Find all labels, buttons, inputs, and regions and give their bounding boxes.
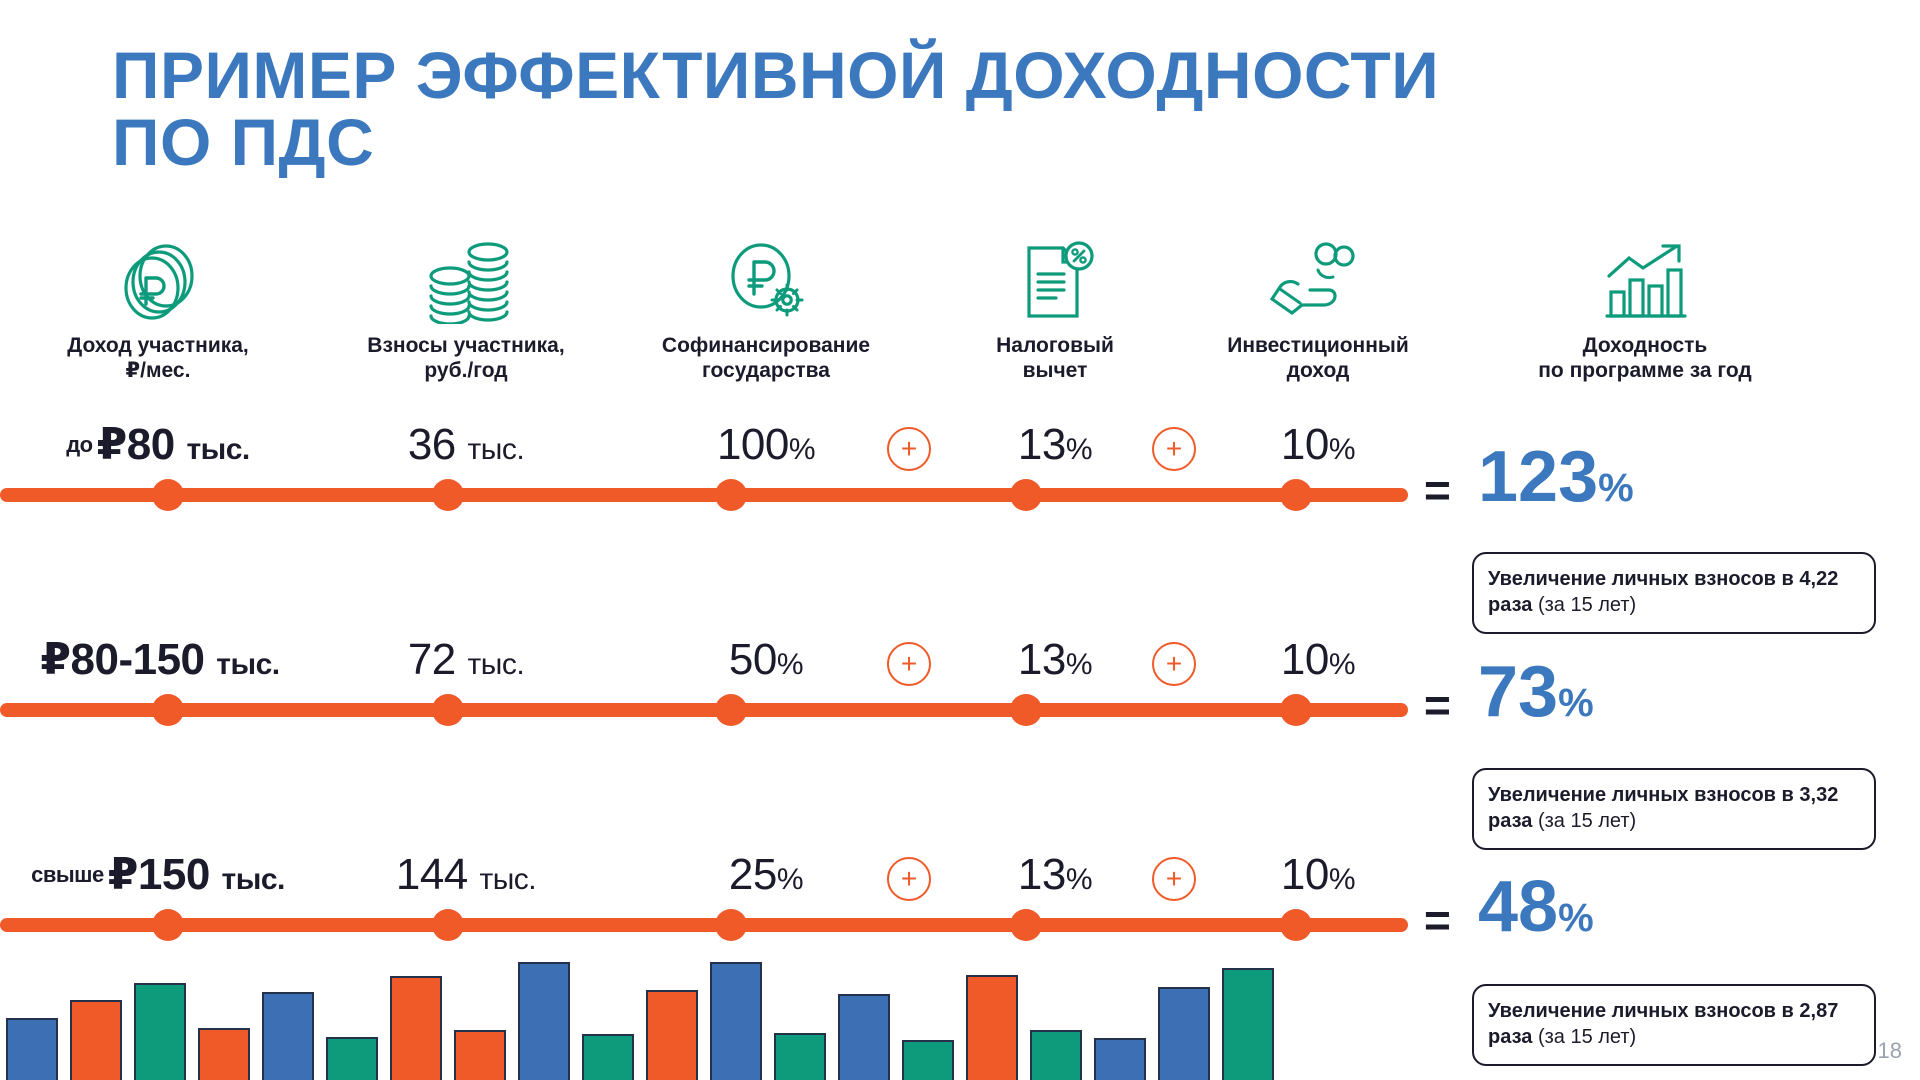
result-amount: 73 xyxy=(1478,652,1558,732)
connector-line xyxy=(0,488,1408,502)
income-value: ₽80-150 тыс. xyxy=(8,630,308,695)
decorative-bar xyxy=(646,990,698,1080)
decorative-bar xyxy=(902,1040,954,1080)
investment-income-unit: % xyxy=(1329,863,1355,896)
result-value: 48% xyxy=(1478,871,1594,943)
income-unit: тыс. xyxy=(222,863,285,896)
growth-chart-arrow-icon xyxy=(1480,232,1810,324)
result-unit: % xyxy=(1558,681,1594,725)
data-row: до₽80 тыс. 36 тыс. 100% + 13% + 10% = 12… xyxy=(0,415,1920,535)
income-symbol: ₽ xyxy=(97,420,127,469)
contribution-amount: 36 xyxy=(408,420,456,469)
contribution-unit: тыс. xyxy=(468,433,525,466)
data-row: ₽80-150 тыс. 72 тыс. 50% + 13% + 10% = 7… xyxy=(0,630,1920,750)
connector-dot xyxy=(715,694,747,726)
cofinancing-unit: % xyxy=(777,863,803,896)
equals-icon: = xyxy=(1424,678,1451,732)
decorative-bar xyxy=(582,1034,634,1080)
cofinancing-value: 25% xyxy=(606,845,926,910)
rouble-coins-icon xyxy=(8,232,308,324)
investment-income-unit: % xyxy=(1329,648,1355,681)
connector-dot xyxy=(152,694,184,726)
income-prefix: свыше xyxy=(31,862,104,887)
connector-dot xyxy=(1010,479,1042,511)
result-unit: % xyxy=(1558,896,1594,940)
investment-income-amount: 10 xyxy=(1281,850,1329,899)
investment-income-value: 10% xyxy=(1168,415,1468,480)
income-amount: 150 xyxy=(138,850,210,899)
cofinancing-value: 100% xyxy=(606,415,926,480)
callout-light-text: (за 15 лет) xyxy=(1538,594,1636,616)
column-tax-deduction: Налоговый вычет xyxy=(930,232,1180,384)
decorative-bar xyxy=(134,983,186,1080)
income-unit: тыс. xyxy=(216,648,279,681)
column-tax-deduction-label: Налоговый вычет xyxy=(930,334,1180,384)
page-title: ПРИМЕР ЭФФЕКТИВНОЙ ДОХОДНОСТИ ПО ПДС xyxy=(112,42,1812,177)
contribution-value: 72 тыс. xyxy=(316,630,616,695)
column-header-row: Доход участника, ₽/мес. Взносы участника… xyxy=(0,232,1860,402)
income-symbol: ₽ xyxy=(108,850,138,899)
column-income-label: Доход участника, ₽/мес. xyxy=(8,334,308,384)
decorative-bar xyxy=(1030,1030,1082,1080)
callout-box: Увеличение личных взносов в 3,32 раза (з… xyxy=(1472,768,1876,850)
equals-icon: = xyxy=(1424,893,1451,947)
slide-root: ПРИМЕР ЭФФЕКТИВНОЙ ДОХОДНОСТИ ПО ПДС Дох… xyxy=(0,0,1920,1080)
investment-income-amount: 10 xyxy=(1281,420,1329,469)
tax-deduction-value: 13% xyxy=(930,845,1180,910)
connector-dot xyxy=(715,909,747,941)
connector-dot xyxy=(152,479,184,511)
cofinancing-amount: 100 xyxy=(717,420,789,469)
cofinancing-unit: % xyxy=(789,433,815,466)
callout-box: Увеличение личных взносов в 2,87 раза (з… xyxy=(1472,984,1876,1066)
decorative-bar xyxy=(262,992,314,1080)
decorative-bar-chart xyxy=(0,970,1420,1080)
investment-income-value: 10% xyxy=(1168,630,1468,695)
callout-light-text: (за 15 лет) xyxy=(1538,810,1636,832)
connector-dot xyxy=(1010,909,1042,941)
tax-deduction-amount: 13 xyxy=(1018,420,1066,469)
result-value: 73% xyxy=(1478,656,1594,728)
tax-deduction-unit: % xyxy=(1066,863,1092,896)
investment-income-unit: % xyxy=(1329,433,1355,466)
decorative-bar xyxy=(326,1037,378,1080)
tax-document-percent-icon xyxy=(930,232,1180,324)
cofinancing-amount: 50 xyxy=(729,635,777,684)
column-income: Доход участника, ₽/мес. xyxy=(8,232,308,384)
plus-icon: + xyxy=(887,642,931,686)
tax-deduction-amount: 13 xyxy=(1018,635,1066,684)
result-amount: 123 xyxy=(1478,437,1598,517)
income-amount: 80-150 xyxy=(71,635,205,684)
contribution-unit: тыс. xyxy=(480,863,537,896)
decorative-bar xyxy=(1158,987,1210,1080)
tax-deduction-amount: 13 xyxy=(1018,850,1066,899)
decorative-bar xyxy=(518,962,570,1080)
decorative-bar xyxy=(1222,968,1274,1080)
contribution-amount: 144 xyxy=(396,850,468,899)
income-unit: тыс. xyxy=(186,433,249,466)
equals-icon: = xyxy=(1424,463,1451,517)
coin-stacks-icon xyxy=(316,232,616,324)
result-amount: 48 xyxy=(1478,867,1558,947)
income-value: до₽80 тыс. xyxy=(8,415,308,480)
income-value: свыше₽150 тыс. xyxy=(8,845,308,910)
column-cofinancing: Софинансирование государства xyxy=(606,232,926,384)
callout-box: Увеличение личных взносов в 4,22 раза (з… xyxy=(1472,552,1876,634)
connector-dot xyxy=(715,479,747,511)
connector-dot xyxy=(1280,479,1312,511)
decorative-bar xyxy=(774,1033,826,1080)
cofinancing-unit: % xyxy=(777,648,803,681)
column-program-yield: Доходность по программе за год xyxy=(1480,232,1810,384)
decorative-bar xyxy=(70,1000,122,1080)
contribution-value: 144 тыс. xyxy=(316,845,616,910)
decorative-bar xyxy=(454,1030,506,1080)
tax-deduction-unit: % xyxy=(1066,648,1092,681)
investment-income-amount: 10 xyxy=(1281,635,1329,684)
cofinancing-amount: 25 xyxy=(729,850,777,899)
contribution-unit: тыс. xyxy=(468,648,525,681)
connector-dot xyxy=(1280,909,1312,941)
decorative-bar xyxy=(6,1018,58,1080)
decorative-bar xyxy=(838,994,890,1080)
hand-coins-icon xyxy=(1168,232,1468,324)
connector-dot xyxy=(432,479,464,511)
column-contributions-label: Взносы участника, руб./год xyxy=(316,334,616,384)
connector-dot xyxy=(432,694,464,726)
investment-income-value: 10% xyxy=(1168,845,1468,910)
decorative-bar xyxy=(1094,1038,1146,1080)
rouble-gear-icon xyxy=(606,232,926,324)
column-investment-income: Инвестиционный доход xyxy=(1168,232,1468,384)
data-row: свыше₽150 тыс. 144 тыс. 25% + 13% + 10% … xyxy=(0,845,1920,965)
column-investment-income-label: Инвестиционный доход xyxy=(1168,334,1468,384)
plus-icon: + xyxy=(887,857,931,901)
callout-light-text: (за 15 лет) xyxy=(1538,1026,1636,1048)
income-prefix: до xyxy=(66,432,92,457)
tax-deduction-unit: % xyxy=(1066,433,1092,466)
connector-line xyxy=(0,703,1408,717)
column-contributions: Взносы участника, руб./год xyxy=(316,232,616,384)
income-amount: 80 xyxy=(127,420,175,469)
income-symbol: ₽ xyxy=(40,635,70,684)
connector-line xyxy=(0,918,1408,932)
column-program-yield-label: Доходность по программе за год xyxy=(1480,334,1810,384)
connector-dot xyxy=(432,909,464,941)
decorative-bar xyxy=(966,975,1018,1080)
result-unit: % xyxy=(1598,466,1634,510)
decorative-bar xyxy=(198,1028,250,1080)
connector-dot xyxy=(152,909,184,941)
tax-deduction-value: 13% xyxy=(930,630,1180,695)
page-number: 18 xyxy=(1878,1038,1902,1064)
cofinancing-value: 50% xyxy=(606,630,926,695)
column-cofinancing-label: Софинансирование государства xyxy=(606,334,926,384)
connector-dot xyxy=(1280,694,1312,726)
plus-icon: + xyxy=(887,427,931,471)
result-value: 123% xyxy=(1478,441,1634,513)
decorative-bar xyxy=(710,962,762,1080)
contribution-value: 36 тыс. xyxy=(316,415,616,480)
connector-dot xyxy=(1010,694,1042,726)
tax-deduction-value: 13% xyxy=(930,415,1180,480)
decorative-bar xyxy=(390,976,442,1080)
title-line-2: ПО ПДС xyxy=(112,109,1812,176)
title-line-1: ПРИМЕР ЭФФЕКТИВНОЙ ДОХОДНОСТИ xyxy=(112,38,1439,112)
contribution-amount: 72 xyxy=(408,635,456,684)
